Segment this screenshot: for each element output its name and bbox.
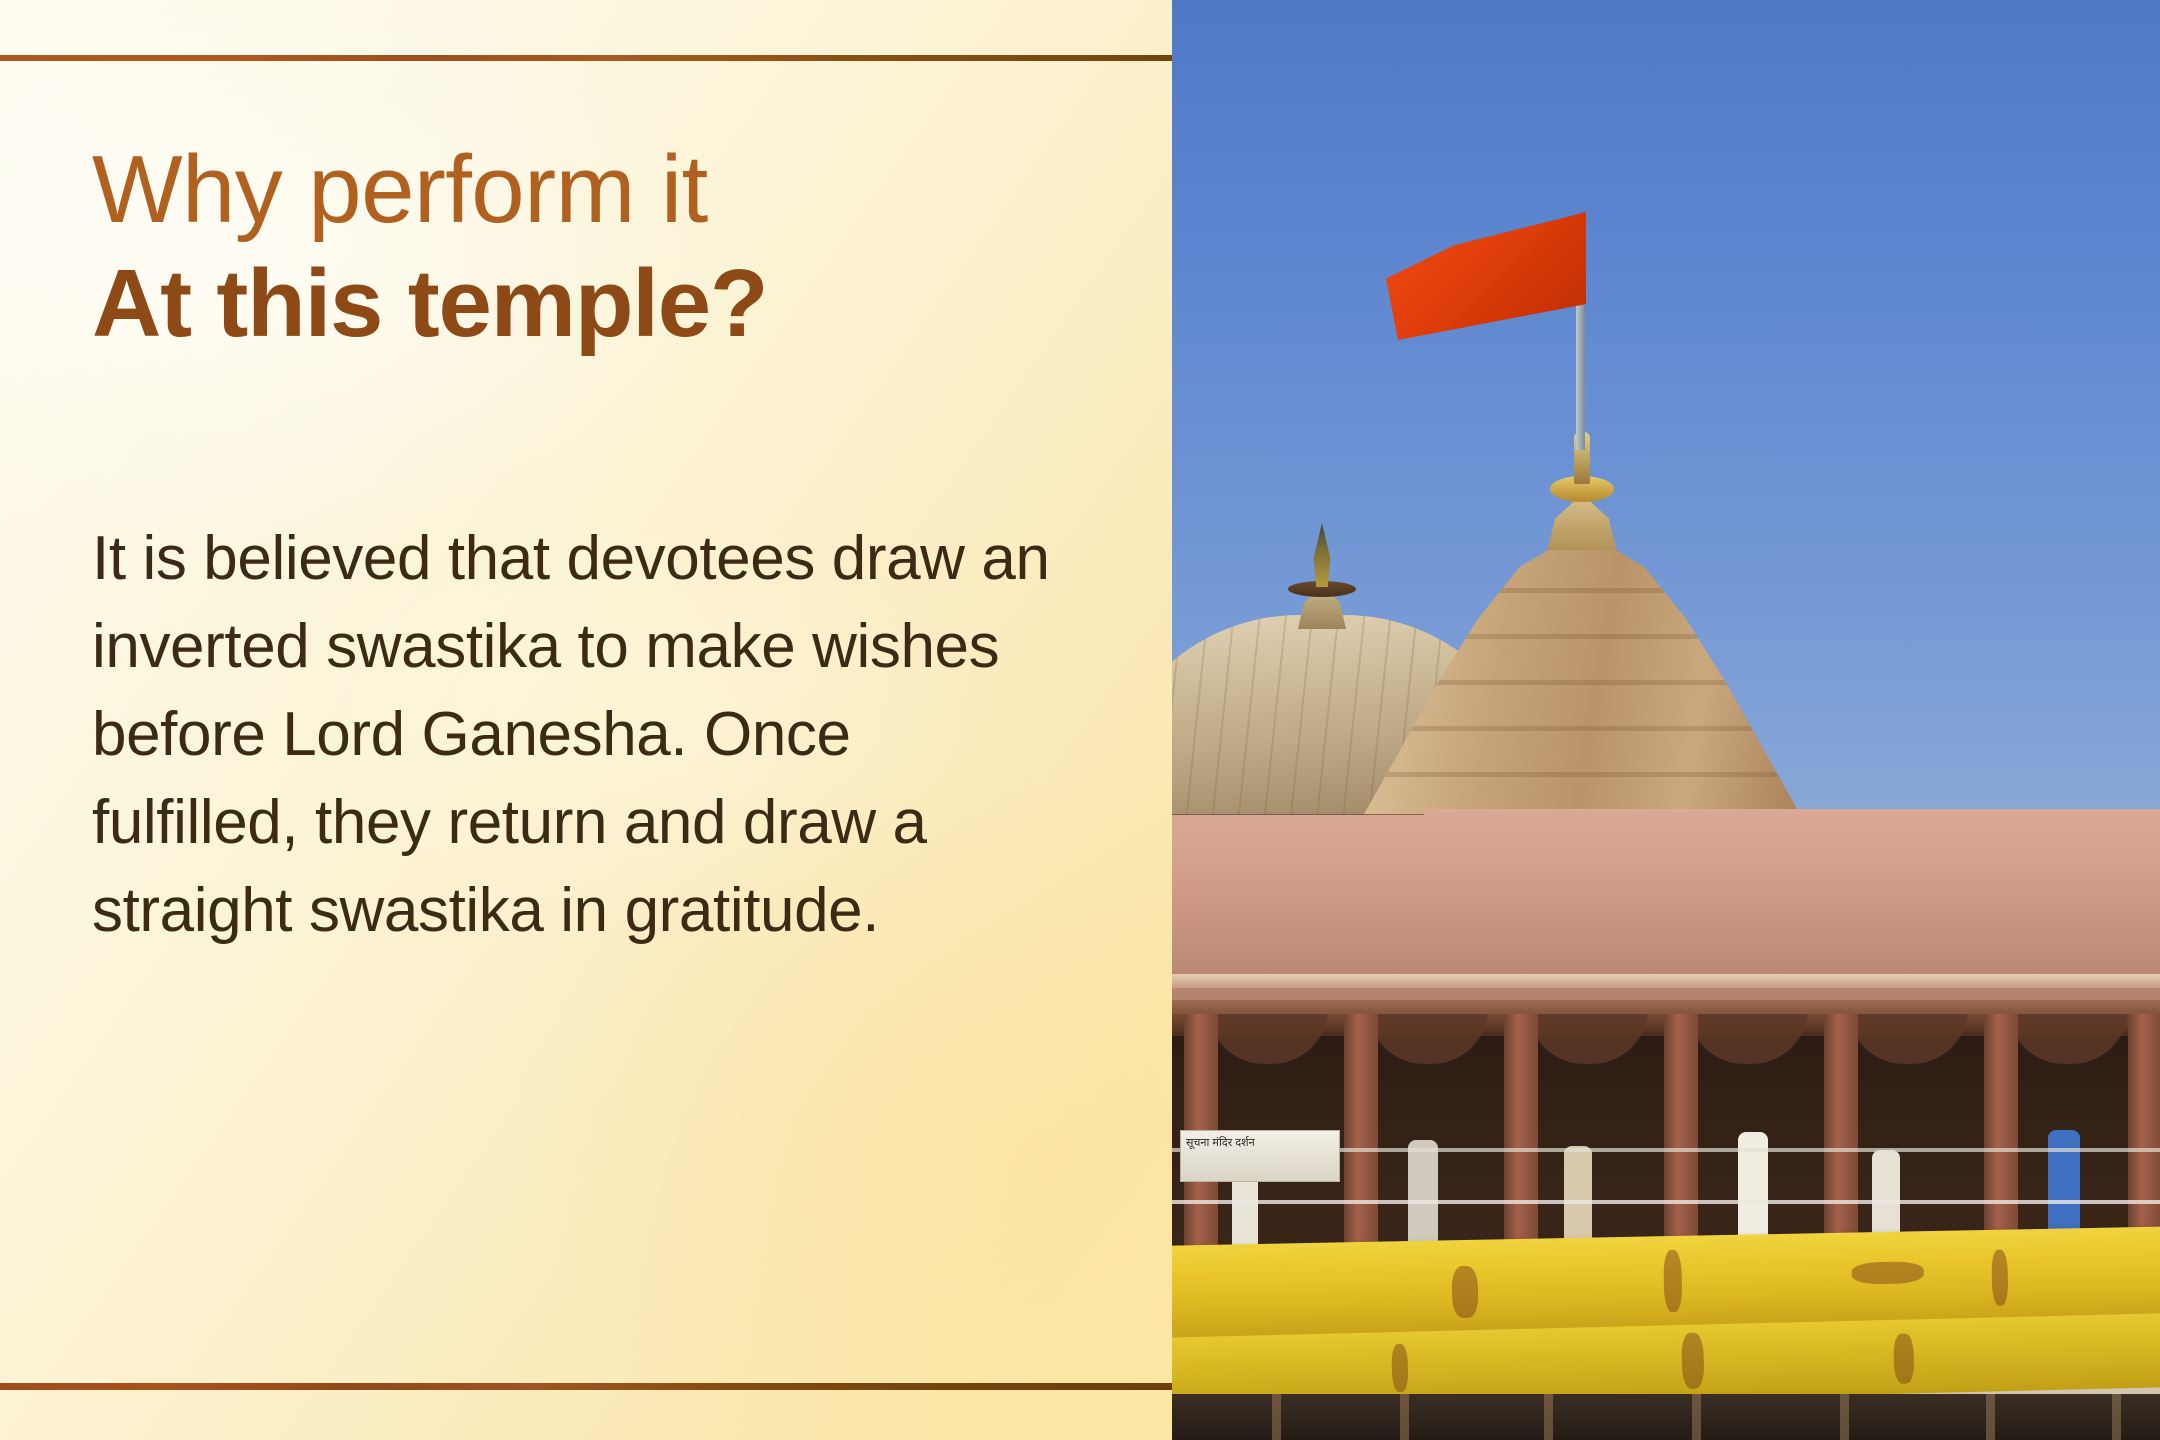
temple-photo-panel: सूचना मंदिर दर्शन xyxy=(1172,0,2160,1440)
shikhara-neck xyxy=(1534,494,1630,550)
infographic-slide: Why perform it At this temple? It is bel… xyxy=(0,0,2160,1440)
yellow-barricade xyxy=(1172,1230,2160,1440)
lower-railing xyxy=(1172,1200,2160,1204)
body-block: It is believed that devotees draw an inv… xyxy=(92,515,1052,955)
notice-signboard: सूचना मंदिर दर्शन xyxy=(1180,1130,1340,1182)
text-panel: Why perform it At this temple? It is bel… xyxy=(0,0,1172,1440)
bottom-divider-rule xyxy=(0,1383,1172,1390)
body-paragraph: It is believed that devotees draw an inv… xyxy=(92,515,1052,955)
barricade-base xyxy=(1172,1394,2160,1440)
headline-line-2: At this temple? xyxy=(92,250,1092,358)
top-divider-rule xyxy=(0,55,1172,61)
headline-block: Why perform it At this temple? xyxy=(92,140,1092,357)
signboard-text: सूचना मंदिर दर्शन xyxy=(1186,1137,1334,1151)
parapet-band xyxy=(1172,974,2160,988)
headline-line-1: Why perform it xyxy=(92,140,1092,240)
